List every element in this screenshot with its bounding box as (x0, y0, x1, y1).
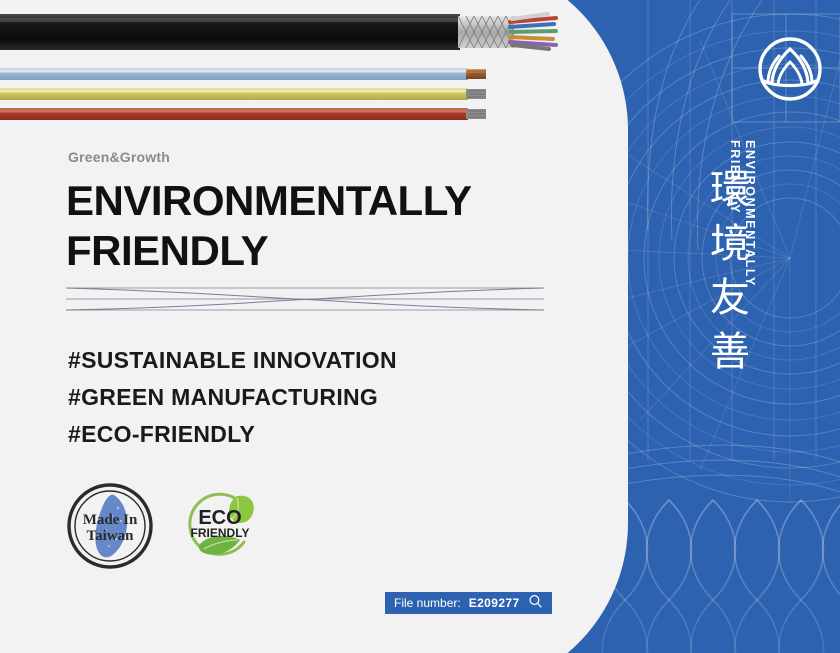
hashtag-item: #ECO-FRIENDLY (68, 416, 397, 453)
file-number-value: E209277 (469, 596, 520, 610)
side-panel-english-line2: FRIENDLY (727, 140, 742, 340)
side-panel-english-line1: ENVIRONMENTALLY (742, 140, 757, 340)
eco-friendly-badge: ECO FRIENDLY (180, 486, 260, 571)
brand-logo-icon (757, 36, 823, 102)
eyebrow-label: Green&Growth (68, 149, 170, 165)
file-number-bar[interactable]: File number: E209277 (385, 592, 552, 614)
page-title-line2: FRIENDLY (66, 226, 472, 276)
taiwan-badge-line2: Taiwan (87, 528, 135, 544)
eco-badge-line2: FRIENDLY (191, 526, 250, 540)
page-title: ENVIRONMENTALLY FRIENDLY (66, 176, 472, 276)
certification-badges: Made In Taiwan ECO FRIENDLY (66, 482, 260, 575)
made-in-taiwan-badge: Made In Taiwan (66, 482, 154, 575)
hashtag-item: #GREEN MANUFACTURING (68, 379, 397, 416)
file-number-label: File number: (394, 596, 461, 610)
hashtag-list: #SUSTAINABLE INNOVATION #GREEN MANUFACTU… (68, 342, 397, 453)
hashtag-item: #SUSTAINABLE INNOVATION (68, 342, 397, 379)
wire-strand-divider (66, 282, 544, 318)
taiwan-badge-line1: Made In (83, 512, 138, 528)
side-panel-english-text: ENVIRONMENTALLY FRIENDLY (727, 140, 757, 340)
content-card: Green&Growth ENVIRONMENTALLY FRIENDLY (0, 0, 628, 653)
page-title-line1: ENVIRONMENTALLY (66, 176, 472, 226)
magnifier-icon[interactable] (528, 594, 543, 612)
cable-product-image (0, 0, 628, 135)
poster-canvas: 環境友善 ENVIRONMENTALLY FRIENDLY (0, 0, 840, 653)
